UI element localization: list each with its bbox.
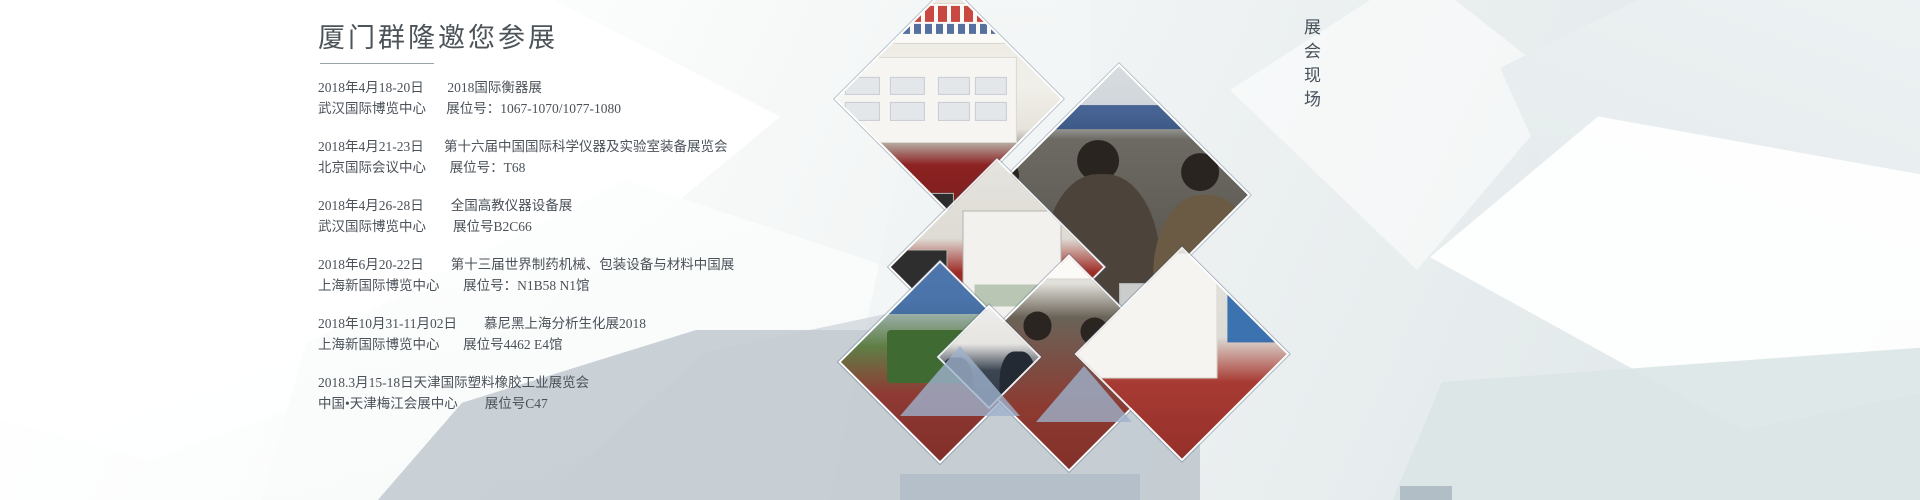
event-name: 2018国际衡器展 — [447, 77, 542, 98]
background-polygon-7 — [1380, 330, 1920, 500]
event-venue: 中国•天津梅江会展中心 — [318, 396, 458, 411]
title-underline — [320, 63, 434, 64]
event-venue: 北京国际会议中心 — [318, 160, 426, 175]
background-polygon-5 — [1500, 0, 1920, 320]
event-booth: 展位号C47 — [485, 396, 548, 411]
event-date: 2018.3月15-18日天津国际塑料橡胶工业展览会 — [318, 372, 589, 393]
background-diamond-watermark — [1230, 0, 1570, 270]
event-venue: 上海新国际博览中心 — [318, 278, 440, 293]
accent-bar-bottom-right — [1400, 486, 1452, 500]
event-booth: 展位号：T68 — [450, 160, 526, 175]
event-name: 慕尼黑上海分析生化展2018 — [484, 313, 646, 334]
event-date: 2018年4月18-20日 — [318, 77, 424, 98]
event-venue: 上海新国际博览中心 — [318, 337, 440, 352]
event-name: 第十六届中国国际科学仪器及实验室装备展览会 — [444, 136, 728, 157]
event-date: 2018年4月26-28日 — [318, 195, 424, 216]
vertical-section-label: 展会现场 — [1285, 18, 1325, 114]
event-name: 第十三届世界制药机械、包装设备与材料中国展 — [451, 254, 735, 275]
background-polygon-6 — [1430, 110, 1920, 430]
event-date: 2018年10月31-11月02日 — [318, 313, 457, 334]
event-booth: 展位号：N1B58 N1馆 — [463, 278, 589, 293]
banner-stage: 厦门群隆邀您参展 2018年4月18-20日 2018国际衡器展 武汉国际博览中… — [0, 0, 1920, 500]
event-date: 2018年6月20-22日 — [318, 254, 424, 275]
event-booth: 展位号B2C66 — [453, 219, 532, 234]
photo-collage — [830, 0, 1270, 500]
event-booth: 展位号：1067-1070/1077-1080 — [446, 101, 621, 116]
event-venue: 武汉国际博览中心 — [318, 219, 426, 234]
event-date: 2018年4月21-23日 — [318, 136, 424, 157]
event-name: 全国高教仪器设备展 — [451, 195, 573, 216]
event-venue: 武汉国际博览中心 — [318, 101, 426, 116]
event-booth: 展位号4462 E4馆 — [463, 337, 562, 352]
